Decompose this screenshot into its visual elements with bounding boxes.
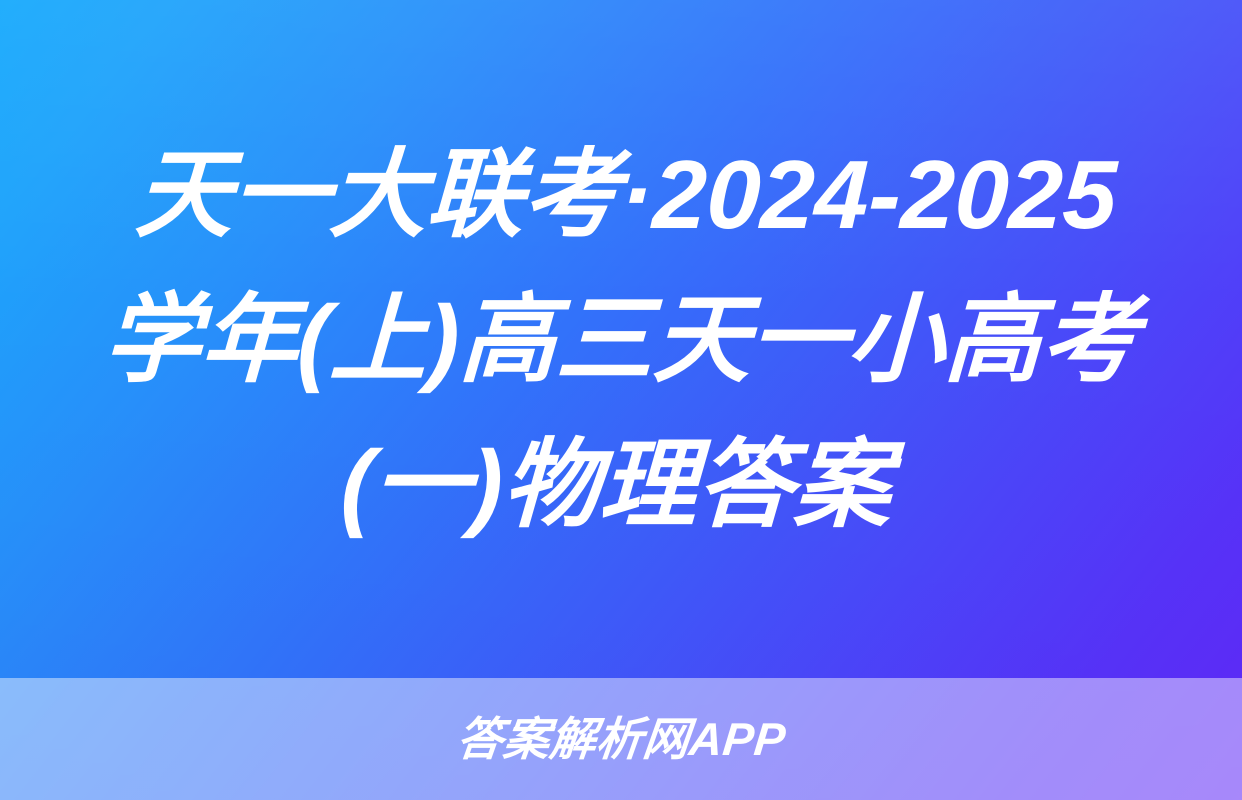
poster-canvas: 天一大联考·2024-2025学年(上)高三天一小高考(一)物理答案 答案解析网… [0,0,1242,800]
page-title: 天一大联考·2024-2025学年(上)高三天一小高考(一)物理答案 [83,122,1158,557]
footer-brand-band: 答案解析网APP [0,678,1242,800]
brand-watermark: 答案解析网APP [454,716,787,762]
title-area: 天一大联考·2024-2025学年(上)高三天一小高考(一)物理答案 [0,0,1242,678]
